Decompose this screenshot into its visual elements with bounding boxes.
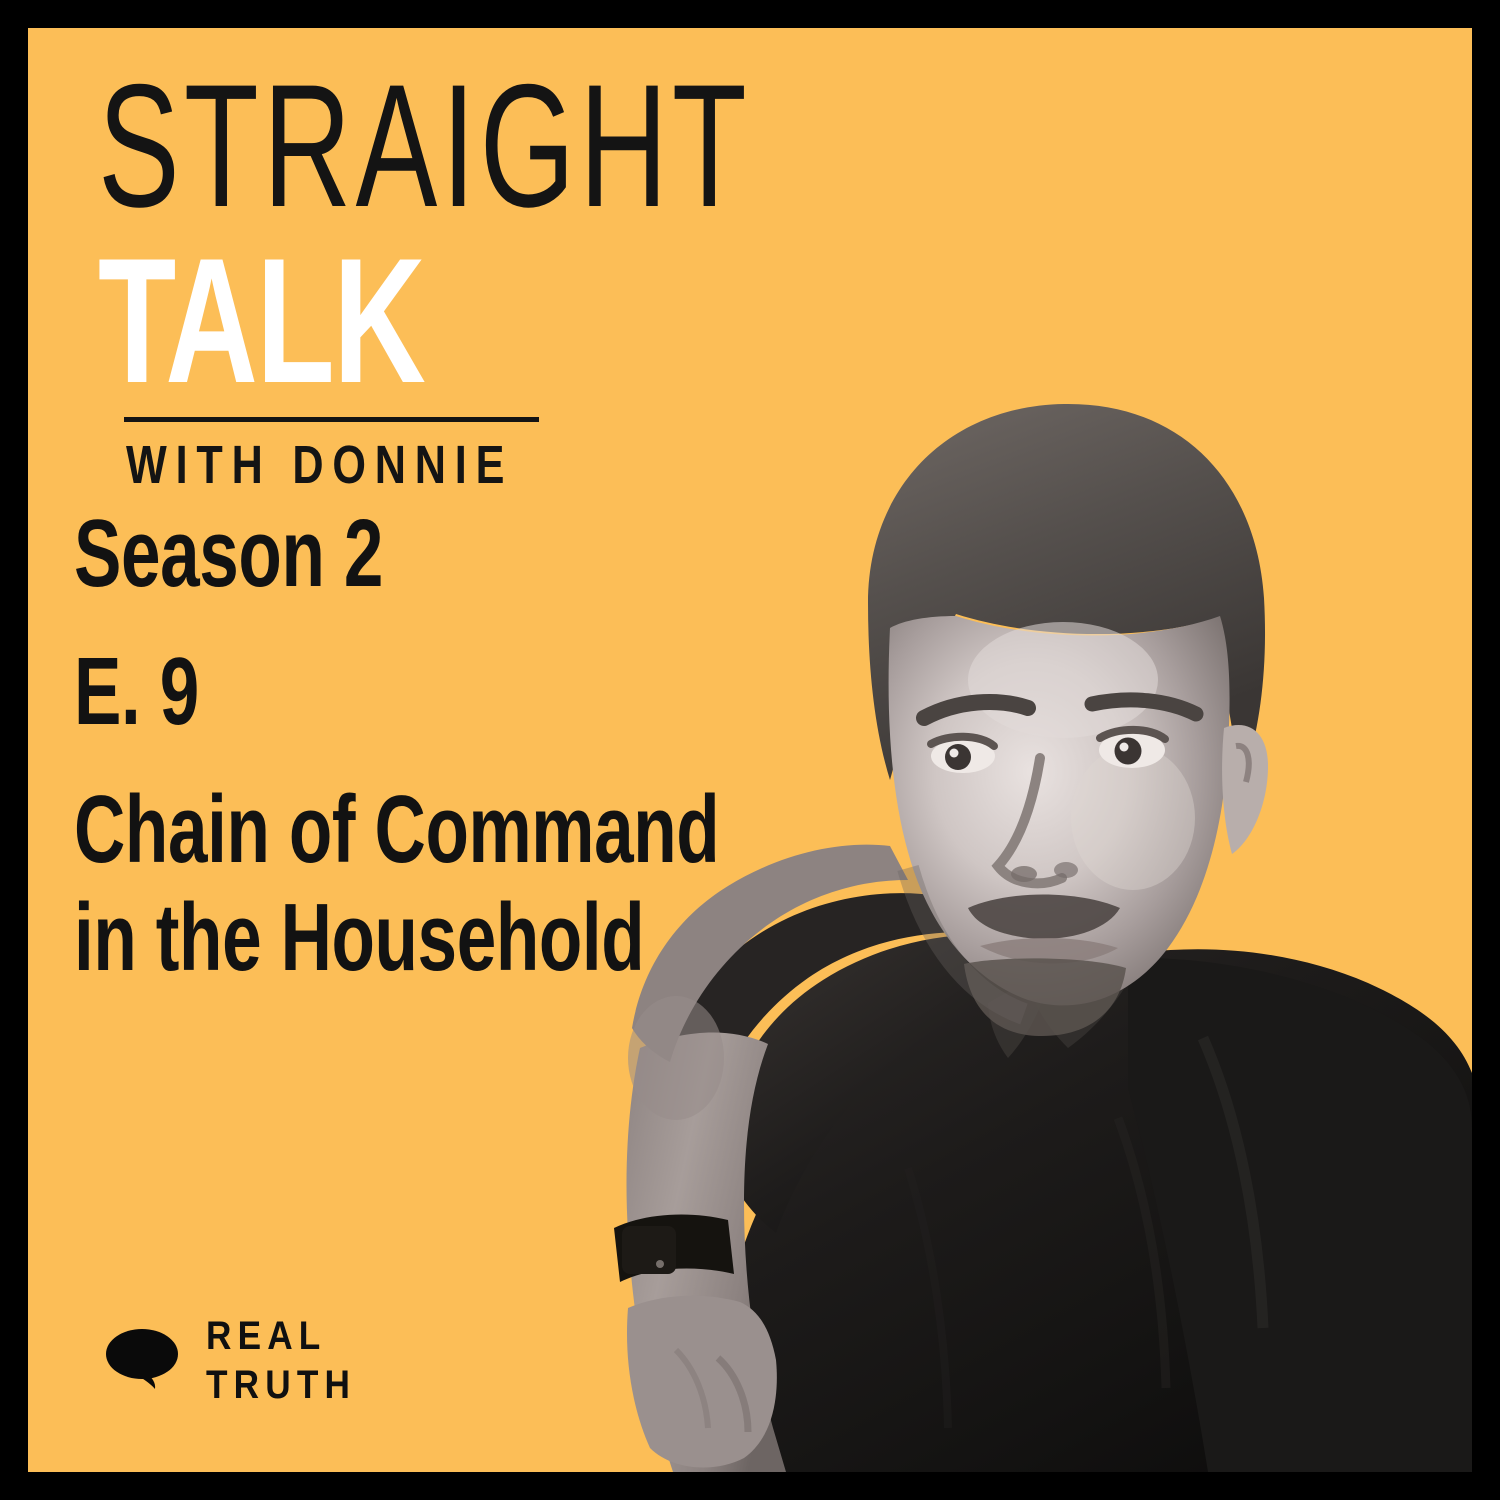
podcast-cover-art: STRAIGHT TALK WITH DONNIE Season 2 E. 9 … <box>0 0 1500 1500</box>
show-title-line-1: STRAIGHT <box>98 73 546 222</box>
show-host-line: WITH DONNIE <box>126 438 616 492</box>
episode-title-line-1: Chain of Command <box>74 782 592 878</box>
show-title-line-2: TALK <box>98 244 559 397</box>
episode-number: E. 9 <box>74 644 592 740</box>
episode-info: Season 2 E. 9 Chain of Command in the Ho… <box>74 506 774 986</box>
brand-wordmark: REAL TRUTH <box>206 1312 377 1410</box>
brand-logo: REAL TRUTH <box>106 1310 377 1410</box>
episode-season: Season 2 <box>74 506 592 602</box>
show-title-lockup: STRAIGHT TALK WITH DONNIE <box>98 73 738 492</box>
speech-bubble-icon <box>106 1327 184 1394</box>
brand-word-truth: TRUTH <box>206 1361 356 1410</box>
brand-word-real: REAL <box>206 1312 356 1361</box>
cover-canvas: STRAIGHT TALK WITH DONNIE Season 2 E. 9 … <box>28 28 1472 1472</box>
episode-title-line-2: in the Household <box>74 890 592 986</box>
